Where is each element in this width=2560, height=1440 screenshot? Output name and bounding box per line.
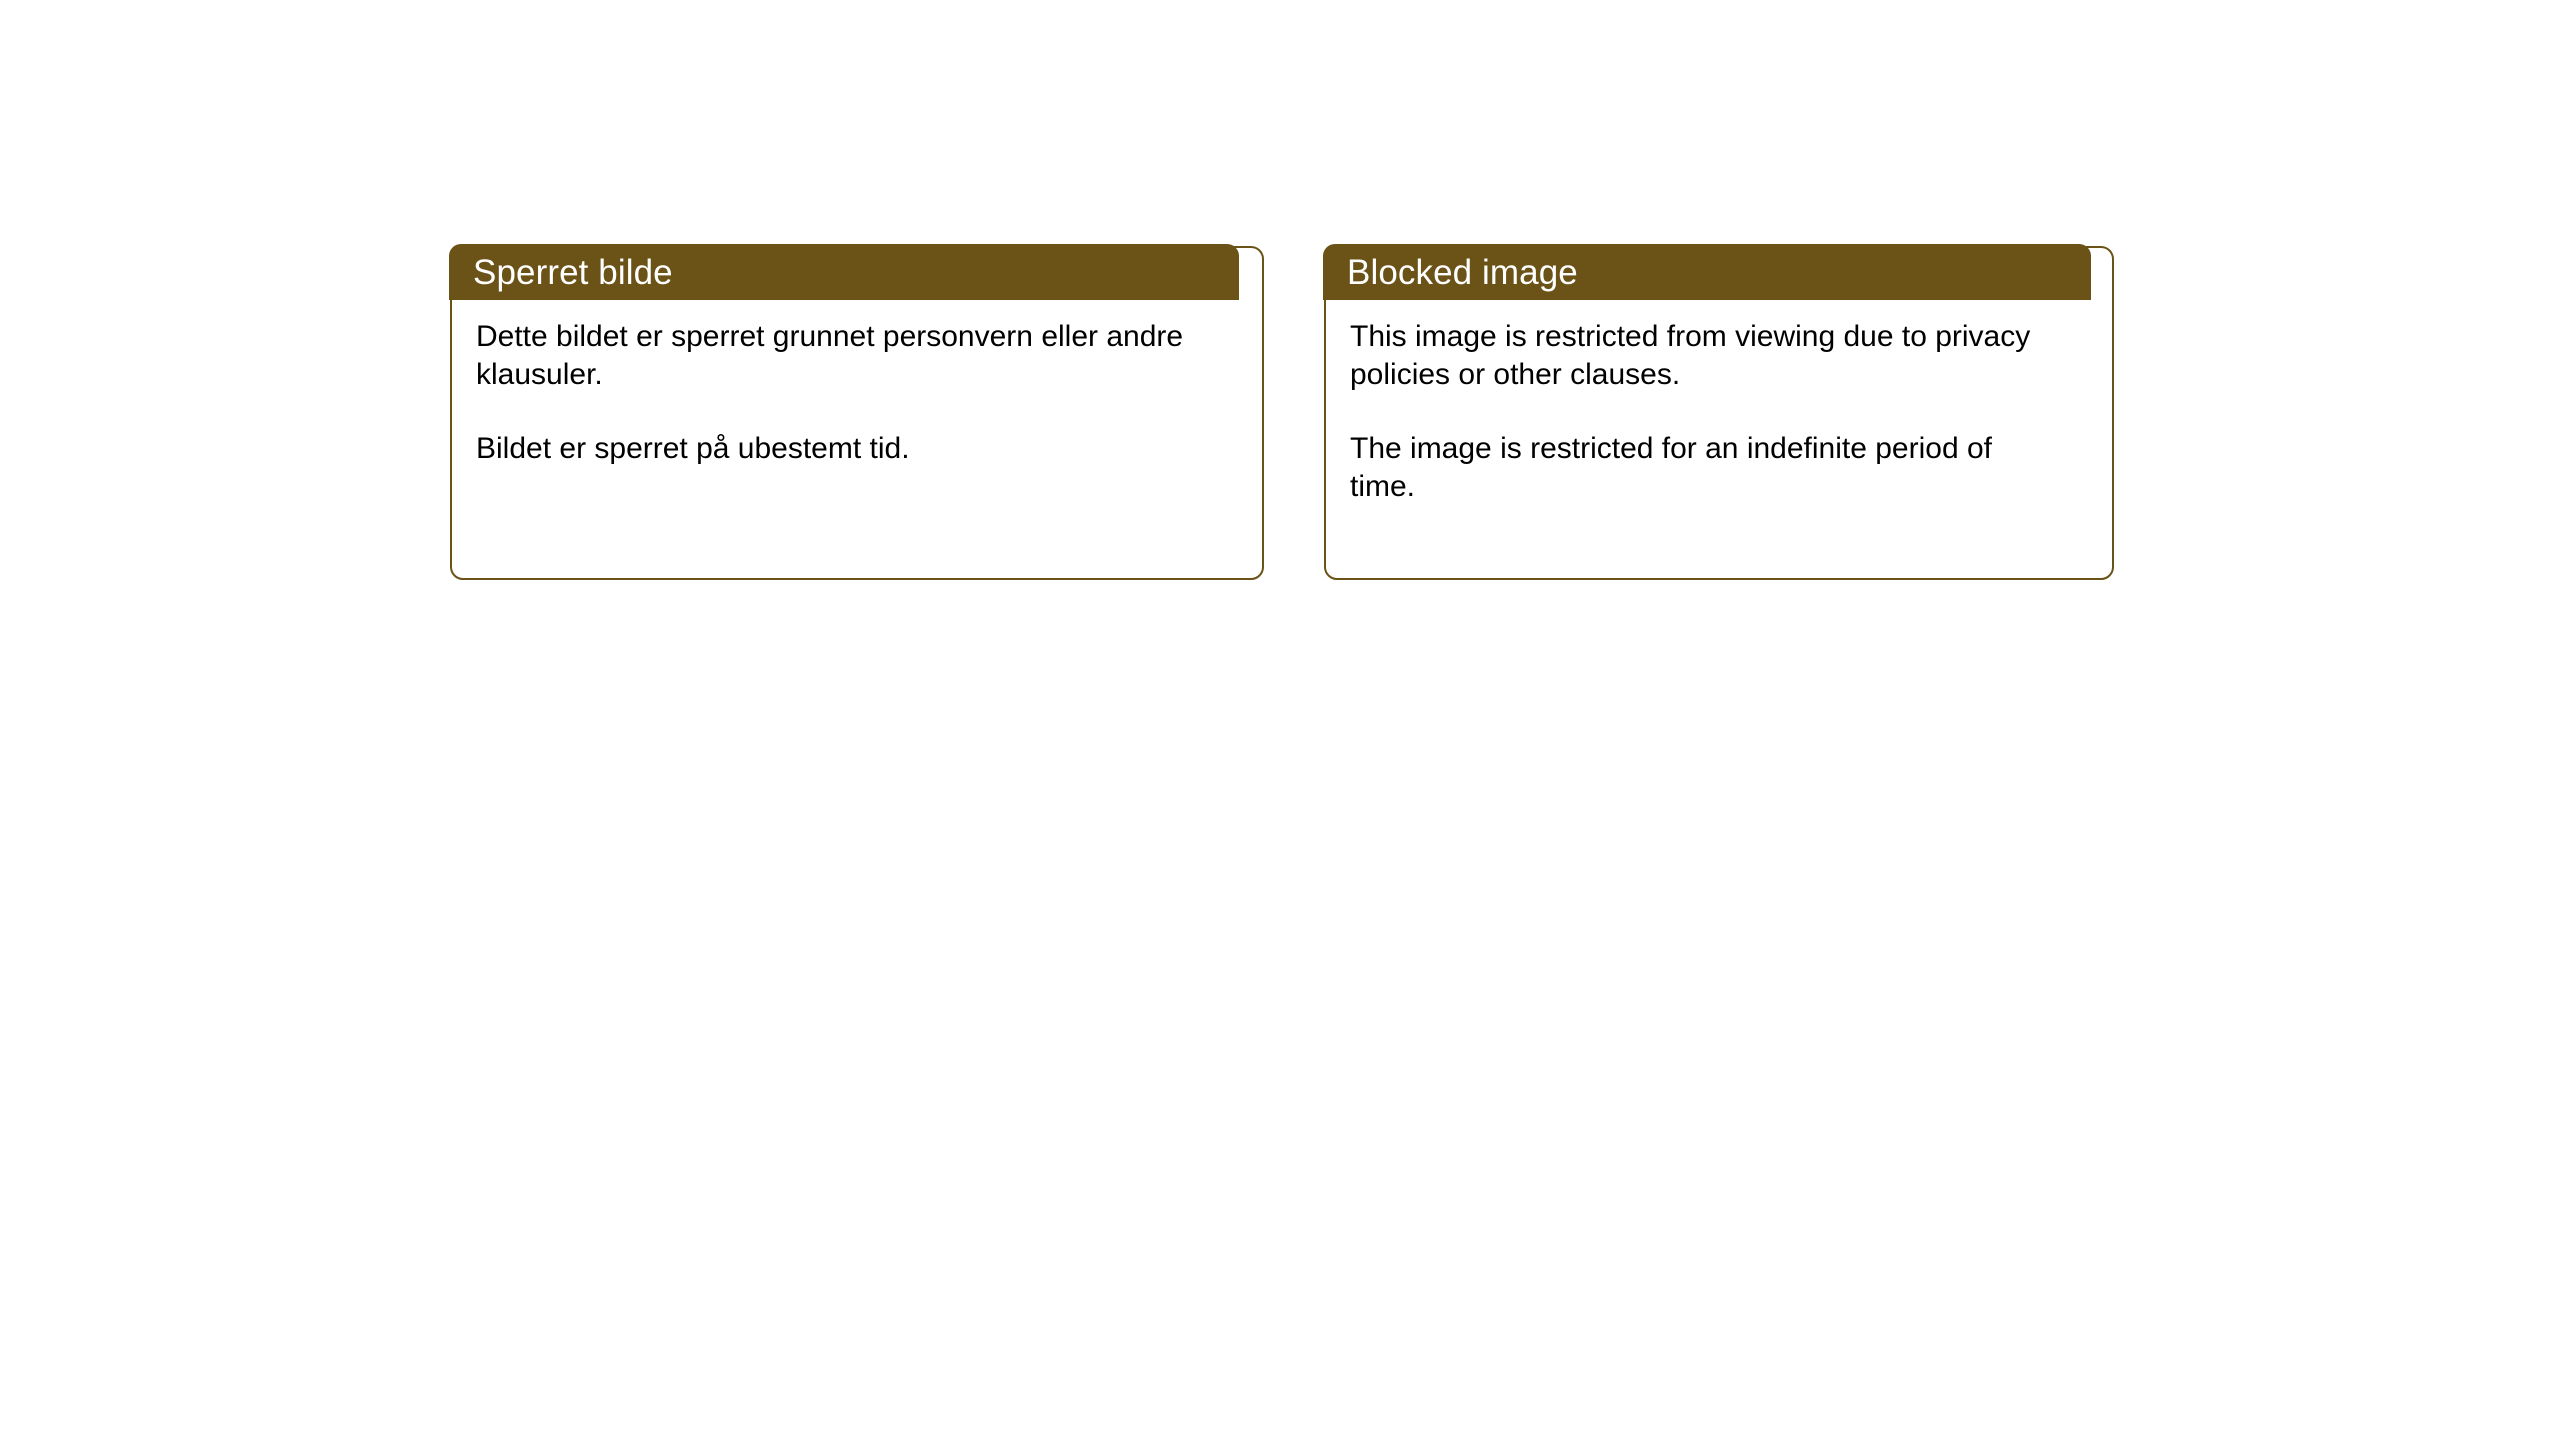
notice-header-no: Sperret bilde [449,244,1239,300]
notice-title-en: Blocked image [1347,255,1578,290]
notice-body-no: Dette bildet er sperret grunnet personve… [452,300,1262,578]
notice-title-no: Sperret bilde [473,255,673,290]
notice-paragraph-no-2: Bildet er sperret på ubestemt tid. [476,430,1196,468]
notice-paragraph-en-1: This image is restricted from viewing du… [1350,318,2050,394]
notice-paragraph-en-2: The image is restricted for an indefinit… [1350,430,2050,506]
notice-paragraph-no-1: Dette bildet er sperret grunnet personve… [476,318,1196,394]
blocked-image-notice-card-no: Sperret bilde Dette bildet er sperret gr… [450,246,1264,580]
notice-body-en: This image is restricted from viewing du… [1326,300,2112,578]
notice-header-en: Blocked image [1323,244,2091,300]
page-canvas: Sperret bilde Dette bildet er sperret gr… [0,0,2560,1440]
blocked-image-notice-card-en: Blocked image This image is restricted f… [1324,246,2114,580]
